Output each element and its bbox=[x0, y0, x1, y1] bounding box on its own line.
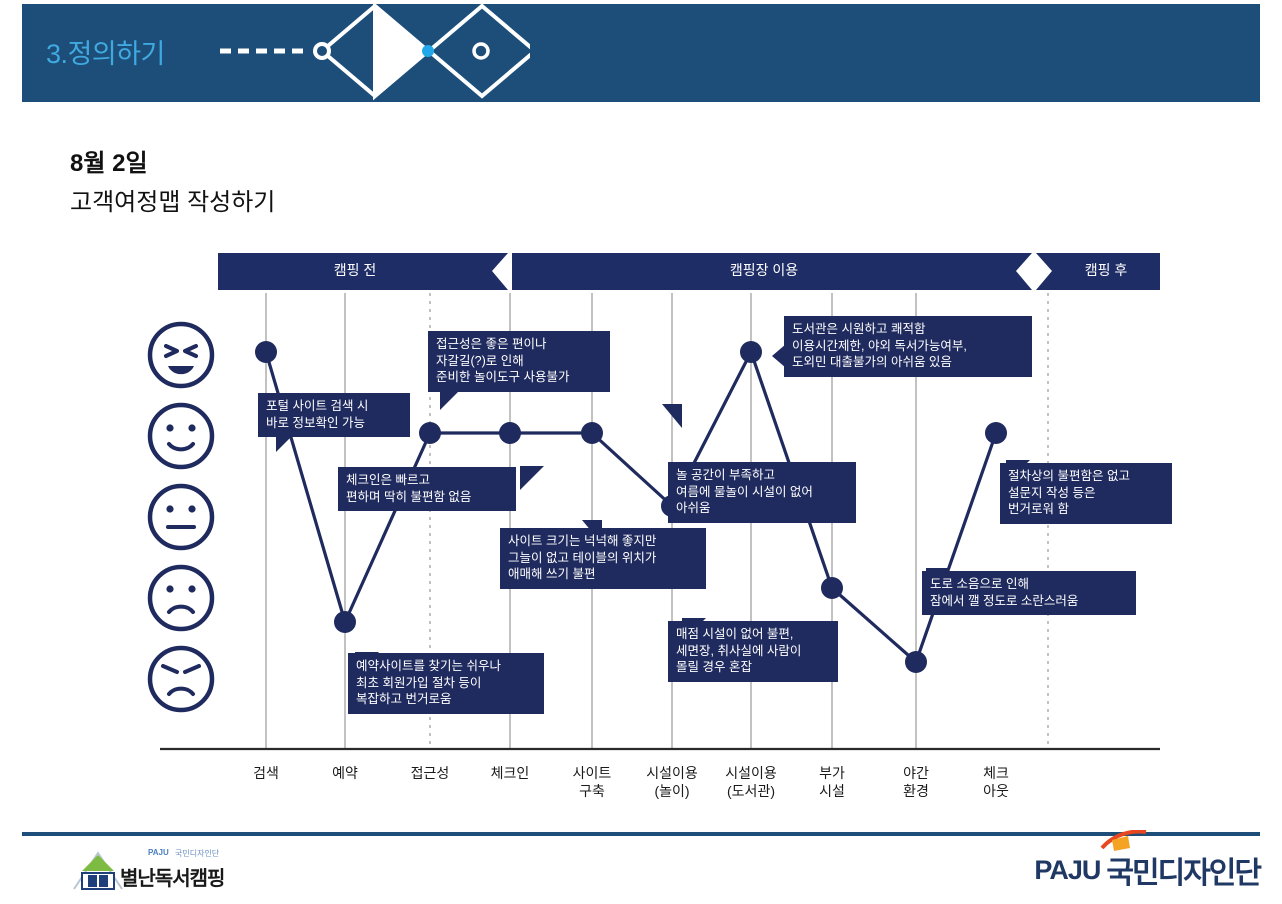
axis-label-night-line2: 환경 bbox=[903, 783, 929, 799]
satisfaction-scale bbox=[150, 324, 212, 710]
axis-label-checkout: 체크아웃 bbox=[946, 765, 1046, 800]
byeolnan-camping-logo-icon bbox=[70, 845, 126, 893]
journey-point-night[interactable] bbox=[905, 651, 927, 673]
callout-night[interactable]: 도로 소음으로 인해 잠에서 깰 정도로 소란스러움 bbox=[922, 571, 1136, 615]
axis-label-extra-facility-line1: 부가 bbox=[819, 765, 845, 781]
phase-label-0: 캠핑 전 bbox=[218, 260, 492, 280]
right-logo-korean: 국민디자인단 bbox=[1106, 848, 1260, 892]
callout-site-setup[interactable]: 사이트 크기는 넉넉해 좋지만 그늘이 없고 테이블의 위치가 애매해 쓰기 불… bbox=[500, 528, 706, 589]
swoosh-icon bbox=[1098, 830, 1150, 852]
axis-label-site-setup-line1: 사이트 bbox=[573, 765, 612, 781]
journey-point-checkout[interactable] bbox=[985, 422, 1007, 444]
axis-label-play-line2: (놀이) bbox=[654, 783, 689, 799]
journey-point-library[interactable] bbox=[740, 341, 762, 363]
phase-label-1: 캠핑장 이용 bbox=[512, 260, 1016, 280]
journey-point-site-setup[interactable] bbox=[581, 422, 603, 444]
face-very-happy-icon bbox=[150, 324, 212, 386]
journey-point-search[interactable] bbox=[255, 341, 277, 363]
callout-extra-facility[interactable]: 매점 시설이 없어 불편, 세면장, 취사실에 사람이 몰릴 경우 혼잡 bbox=[668, 621, 838, 682]
face-very-sad-icon bbox=[150, 648, 212, 710]
journey-point-extra-facility[interactable] bbox=[821, 577, 843, 599]
axis-label-site-setup-line2: 구축 bbox=[579, 783, 605, 799]
phase-label-2: 캠핑 후 bbox=[1052, 260, 1160, 280]
callout-search[interactable]: 포털 사이트 검색 시 바로 정보확인 가능 bbox=[258, 393, 410, 437]
face-sad-icon bbox=[150, 567, 212, 629]
face-happy-icon bbox=[150, 405, 212, 467]
axis-label-checkout-line1: 체크 bbox=[983, 765, 1009, 781]
axis-label-library-line1: 시설이용 bbox=[725, 765, 777, 781]
paju-design-corps-logo: PAJU국민디자인단 bbox=[1034, 848, 1260, 892]
callout-access[interactable]: 접근성은 좋은 편이나 자갈길(?)로 인해 준비한 놀이도구 사용불가 bbox=[428, 331, 610, 392]
journey-point-access[interactable] bbox=[419, 422, 441, 444]
callout-reserve[interactable]: 예약사이트를 찾기는 쉬우나 최초 회원가입 절차 등이 복잡하고 번거로움 bbox=[348, 653, 544, 714]
journey-point-checkin[interactable] bbox=[499, 422, 521, 444]
left-logo-name: 별난독서캠핑 bbox=[120, 862, 224, 891]
axis-label-checkout-line2: 아웃 bbox=[983, 783, 1009, 799]
right-logo-paju: PAJU bbox=[1034, 855, 1100, 886]
axis-label-library-line2: (도서관) bbox=[727, 783, 775, 799]
axis-label-extra-facility-line2: 시설 bbox=[819, 783, 845, 799]
left-logo-tag-paju: PAJU bbox=[148, 848, 169, 857]
callout-library[interactable]: 도서관은 시원하고 쾌적함 이용시간제한, 야외 독서가능여부, 도외민 대출불… bbox=[784, 316, 1032, 377]
journey-point-reserve[interactable] bbox=[334, 611, 356, 633]
axis-label-play-line1: 시설이용 bbox=[646, 765, 698, 781]
callout-checkin[interactable]: 체크인은 빠르고 편하며 딱히 불편함 없음 bbox=[338, 467, 516, 511]
footer-divider bbox=[22, 832, 1260, 836]
face-neutral-icon bbox=[150, 486, 212, 548]
axis-label-night-line1: 야간 bbox=[903, 765, 929, 781]
callout-checkout[interactable]: 절차상의 불편함은 없고 설문지 작성 등은 번거로워 함 bbox=[1000, 463, 1172, 524]
left-logo-tag-sub: 국민디자인단 bbox=[175, 848, 219, 859]
callout-play[interactable]: 놀 공간이 부족하고 여름에 물놀이 시설이 없어 아쉬움 bbox=[668, 462, 856, 523]
